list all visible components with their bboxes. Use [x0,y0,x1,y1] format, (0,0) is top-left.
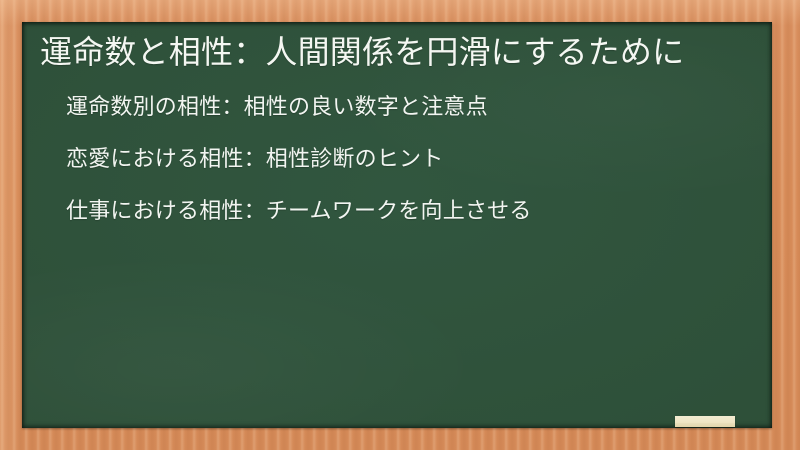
chalkboard-eraser-icon [675,416,735,427]
list-item: 仕事における相性：チームワークを向上させる [66,201,754,223]
topic-list: 運命数別の相性：相性の良い数字と注意点 恋愛における相性：相性診断のヒント 仕事… [32,97,754,223]
eraser-felt [675,423,735,427]
list-item: 恋愛における相性：相性診断のヒント [66,149,754,171]
chalkboard-slide: 運命数と相性：人間関係を円滑にするために 運命数別の相性：相性の良い数字と注意点… [0,0,800,450]
page-title: 運命数と相性：人間関係を円滑にするために [32,30,750,75]
chalkboard-surface: 運命数と相性：人間関係を円滑にするために 運命数別の相性：相性の良い数字と注意点… [22,22,772,428]
list-item: 運命数別の相性：相性の良い数字と注意点 [66,97,754,119]
board-content: 運命数と相性：人間関係を円滑にするために 運命数別の相性：相性の良い数字と注意点… [22,22,772,428]
